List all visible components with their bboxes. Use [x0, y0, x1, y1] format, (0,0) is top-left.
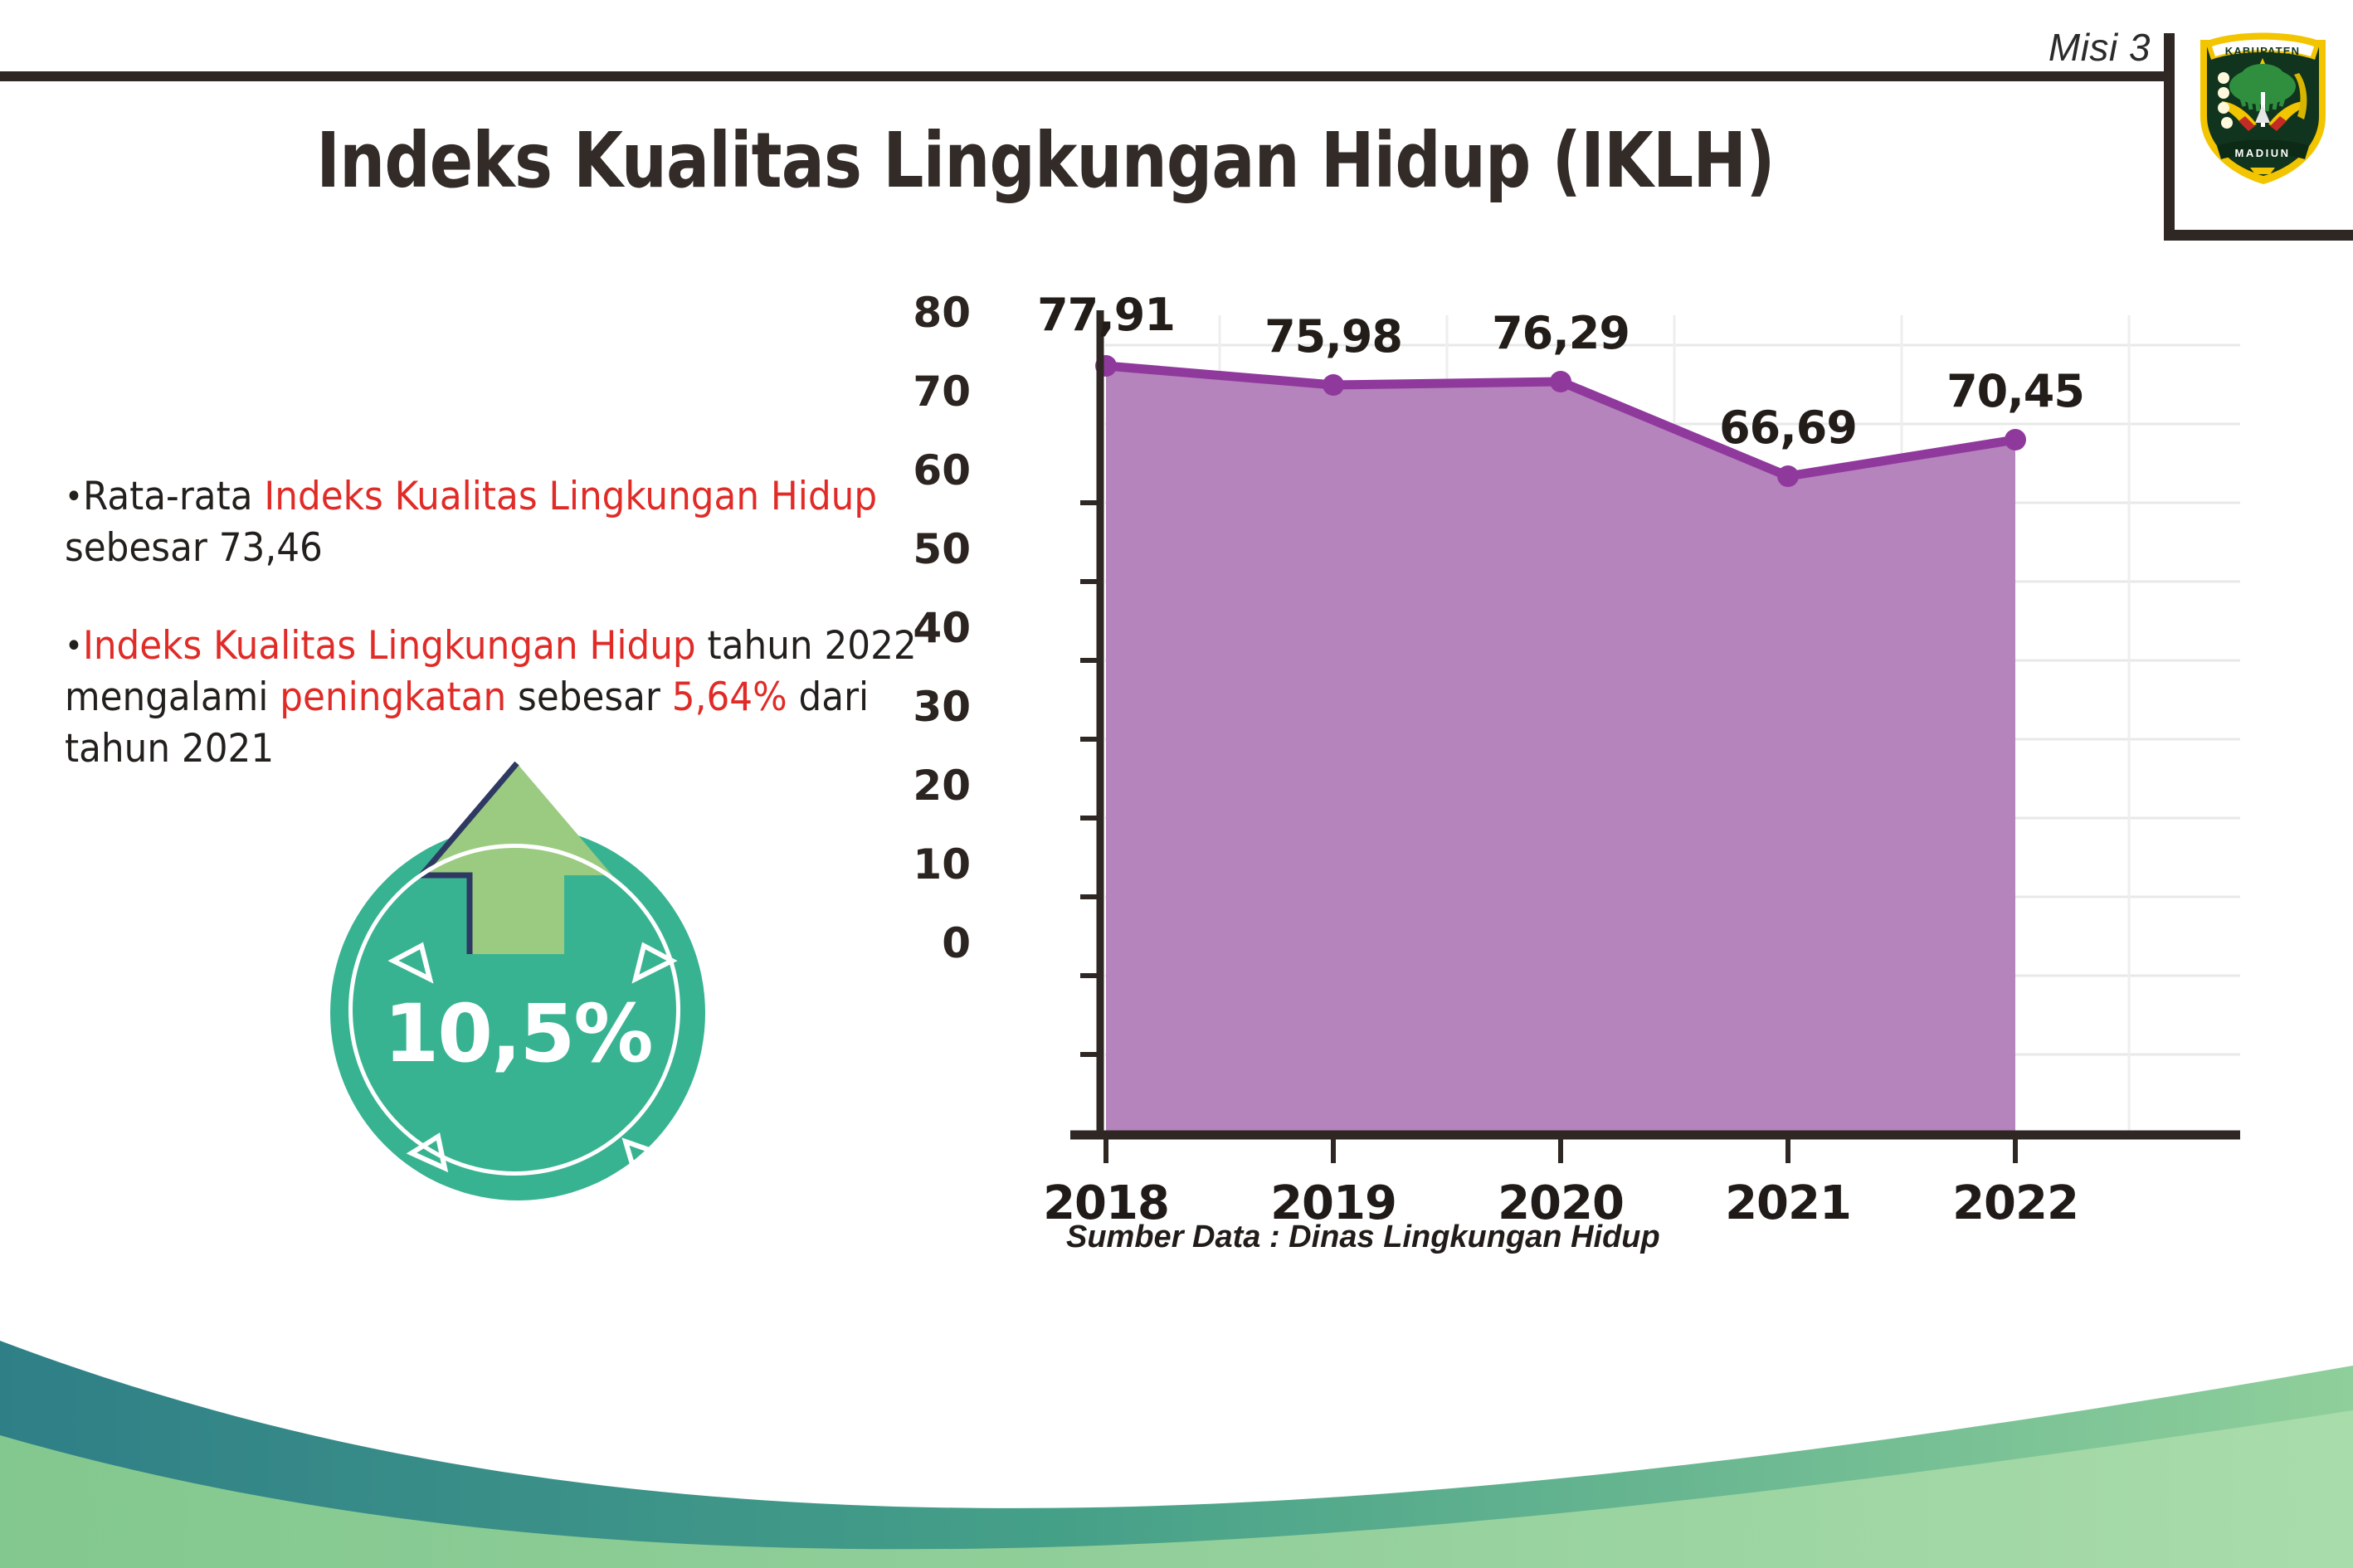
- x-axis-tick-label: 2022: [1916, 1176, 2115, 1230]
- data-label: 66,69: [1680, 402, 1896, 454]
- data-label: 70,45: [1907, 365, 2123, 417]
- slide-canvas: Misi 3 KABUPATEN MADIUN Indeks Kualitas …: [0, 0, 2353, 1568]
- fact-text-segment-highlight: Indeks Kualitas Lingkungan Hidup: [264, 474, 877, 519]
- source-note: Sumber Data : Dinas Lingkungan Hidup: [1066, 1220, 1660, 1255]
- y-axis-tick-label: 30: [871, 683, 971, 731]
- badge-percentage-value: 10,5%: [330, 987, 705, 1080]
- footer-waves: [0, 1286, 2353, 1568]
- chart-plot: [979, 299, 2273, 1178]
- x-axis-tick-label: 2021: [1688, 1176, 1888, 1230]
- fact-text-segment-highlight: peningkatan: [280, 674, 506, 720]
- fact-text-segment-highlight: 5,64%: [672, 674, 787, 720]
- growth-badge: 10,5%: [314, 738, 778, 1203]
- data-label: 75,98: [1225, 310, 1441, 363]
- y-axis-tick-label: 60: [871, 446, 971, 494]
- header-bracket-horizontal: [2164, 230, 2353, 241]
- header-bracket-vertical: [2164, 33, 2175, 241]
- y-axis-tick-label: 40: [871, 604, 971, 652]
- fact-text-segment: sebesar 73,46: [65, 525, 323, 571]
- data-label: 77,91: [998, 289, 1214, 341]
- svg-text:MADIUN: MADIUN: [2235, 147, 2291, 159]
- area-fill: [1106, 366, 2015, 1133]
- fact-text-segment: sebesar: [506, 674, 672, 720]
- y-axis-tick-label: 10: [871, 840, 971, 889]
- fact-text-segment: Rata-rata: [83, 474, 264, 519]
- y-axis-tick-label: 0: [871, 919, 971, 967]
- header-rule: [0, 71, 2167, 81]
- bullet-marker: •: [65, 478, 83, 516]
- footer-banner: Media Infografis Data Statistik Sektoral…: [0, 1286, 2353, 1568]
- list-item: •Rata-rata Indeks Kualitas Lingkungan Hi…: [65, 471, 921, 574]
- y-axis-tick-label: 80: [871, 289, 971, 337]
- y-axis-tick-label: 20: [871, 762, 971, 810]
- bullet-marker: •: [65, 627, 83, 665]
- kabupaten-madiun-crest-icon: KABUPATEN MADIUN: [2190, 22, 2336, 187]
- fact-text-segment-highlight: Indeks Kualitas Lingkungan Hidup: [83, 623, 696, 669]
- y-axis-tick-label: 70: [871, 368, 971, 416]
- data-label: 76,29: [1453, 307, 1669, 359]
- y-axis-tick-label: 50: [871, 525, 971, 573]
- page-title: Indeks Kualitas Lingkungan Hidup (IKLH): [168, 116, 1924, 205]
- svg-text:KABUPATEN: KABUPATEN: [2225, 45, 2300, 57]
- iklh-area-chart: 80 70 60 50 40 30 20 10 0 77,91 75,98 76…: [979, 299, 2273, 1178]
- mission-label: Misi 3: [2049, 25, 2151, 70]
